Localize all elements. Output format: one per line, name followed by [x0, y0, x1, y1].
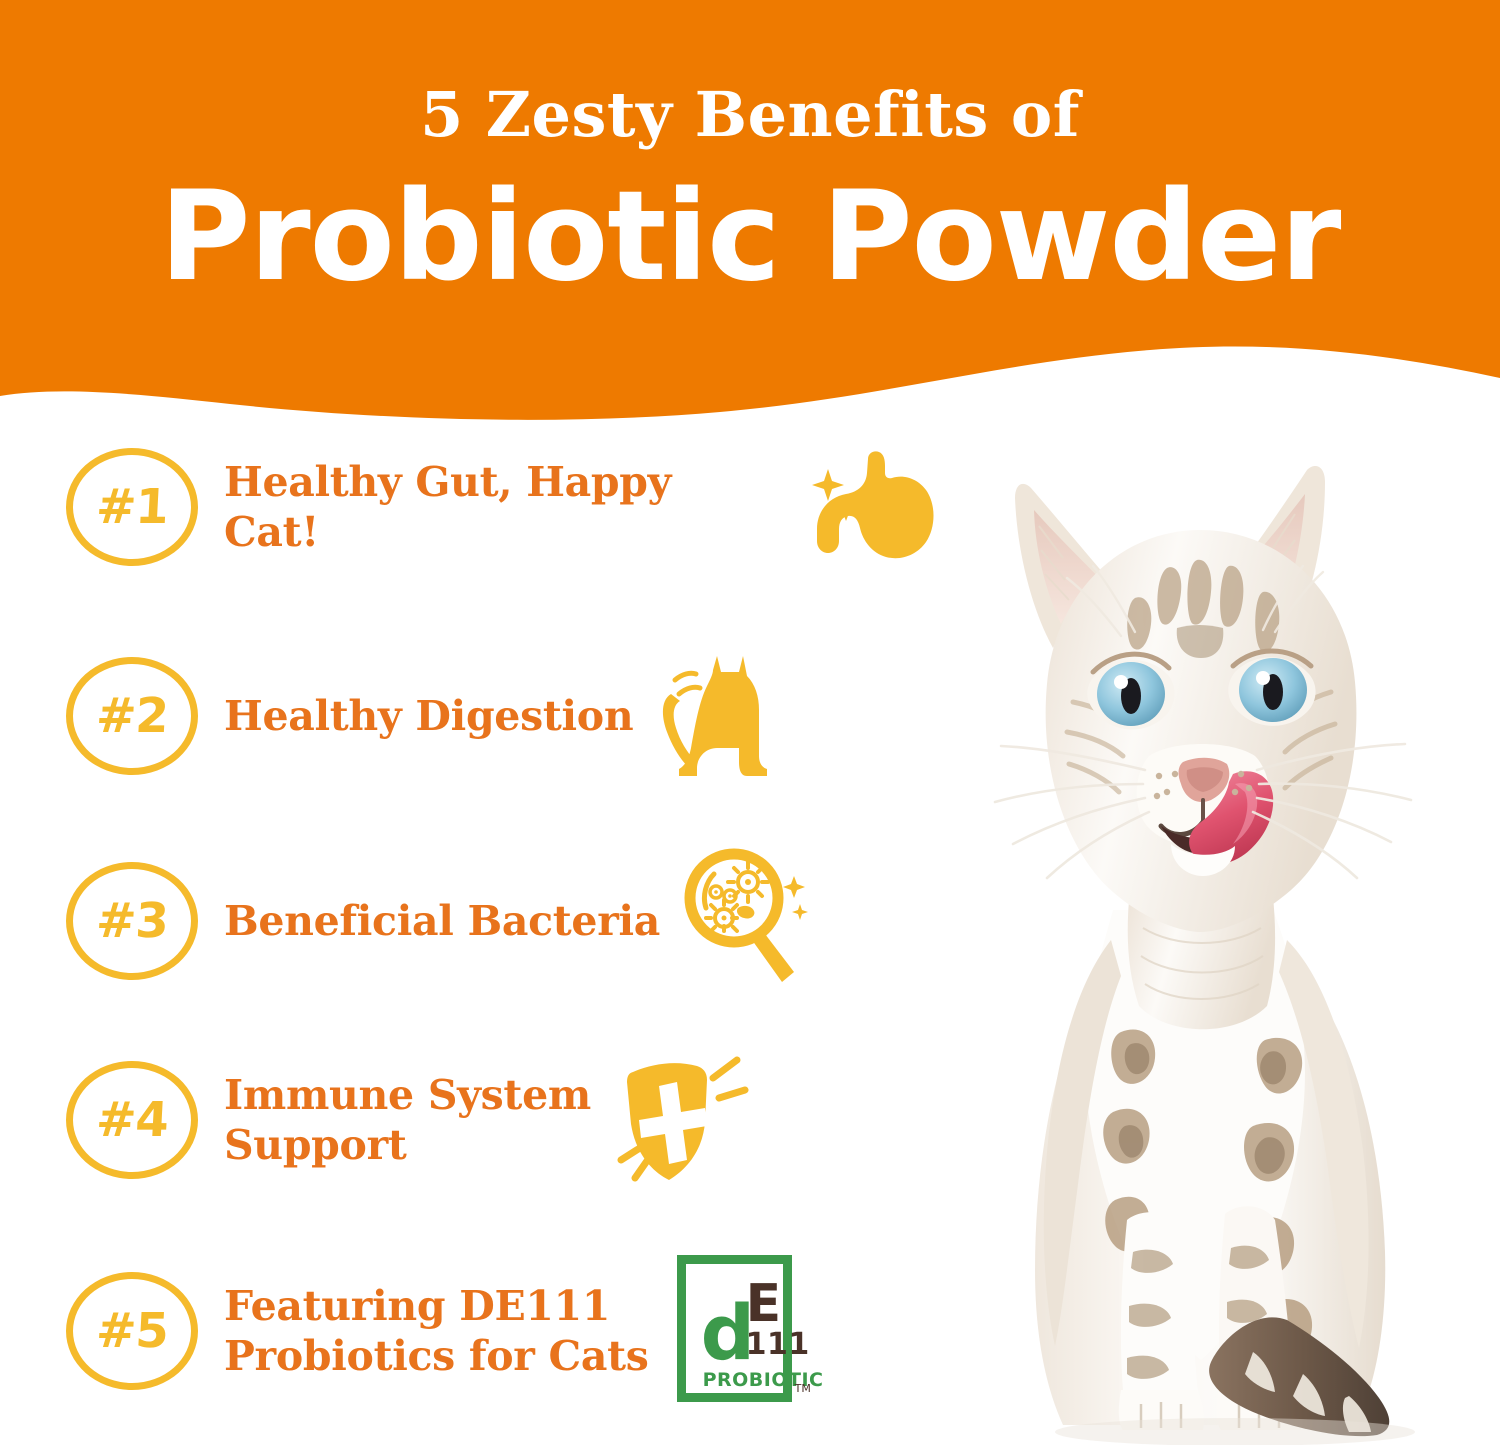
- badge-number: #3: [63, 862, 201, 980]
- magnifier-bacteria-icon: [682, 848, 814, 994]
- benefit-body: Healthy Digestion: [224, 648, 940, 784]
- benefits-list: #1 Healthy Gut, Happy Cat! #2 Health: [0, 430, 940, 1440]
- badge-number: #4: [63, 1061, 201, 1179]
- de111-border-box: d E 111 PROBIOTIC: [677, 1255, 792, 1402]
- de111-trademark-mark: TM: [795, 1383, 811, 1394]
- benefit-row: #1 Healthy Gut, Happy Cat!: [0, 448, 940, 566]
- de111-logo: d E 111 PROBIOTIC TM: [677, 1255, 809, 1407]
- stomach-icon: [800, 449, 940, 565]
- cat-illustration: [935, 440, 1495, 1445]
- badge-number: #5: [63, 1272, 201, 1390]
- infographic-page: 5 Zesty Benefits of Probiotic Powder #1 …: [0, 0, 1500, 1445]
- de111-number: 111: [746, 1330, 810, 1360]
- badge-number: #1: [63, 448, 201, 566]
- benefit-body: Immune System Support: [224, 1050, 940, 1190]
- header-wave-shape: [0, 0, 1500, 420]
- benefit-label: Beneficial Bacteria: [224, 896, 660, 946]
- sitting-cat-icon: [655, 648, 775, 784]
- benefit-label: Featuring DE111 Probiotics for Cats: [224, 1281, 649, 1381]
- header-band: [0, 0, 1500, 420]
- benefit-body: Beneficial Bacteria: [224, 848, 940, 994]
- benefit-label: Healthy Gut, Happy Cat!: [224, 457, 778, 557]
- benefit-badge-3: #3: [66, 862, 198, 980]
- cat-photo: [935, 440, 1495, 1445]
- de111-letter-d: d: [701, 1295, 752, 1371]
- benefit-label: Immune System Support: [224, 1070, 591, 1170]
- benefit-badge-4: #4: [66, 1061, 198, 1179]
- benefit-row: #5 Featuring DE111 Probiotics for Cats d…: [0, 1255, 940, 1407]
- benefit-row: #4 Immune System Support: [0, 1050, 940, 1190]
- de111-letter-e: E: [746, 1278, 782, 1330]
- de111-inner: d E 111 PROBIOTIC: [695, 1273, 792, 1402]
- benefit-badge-1: #1: [66, 448, 198, 566]
- benefit-row: #2 Healthy Digestion: [0, 648, 940, 784]
- benefit-body: Featuring DE111 Probiotics for Cats d E …: [224, 1255, 940, 1407]
- benefit-badge-5: #5: [66, 1272, 198, 1390]
- badge-number: #2: [63, 657, 201, 775]
- benefit-badge-2: #2: [66, 657, 198, 775]
- benefit-row: #3 Beneficial Bacteria: [0, 848, 940, 994]
- benefit-body: Healthy Gut, Happy Cat!: [224, 449, 940, 565]
- shield-plus-icon: [613, 1050, 749, 1190]
- benefit-label: Healthy Digestion: [224, 691, 633, 741]
